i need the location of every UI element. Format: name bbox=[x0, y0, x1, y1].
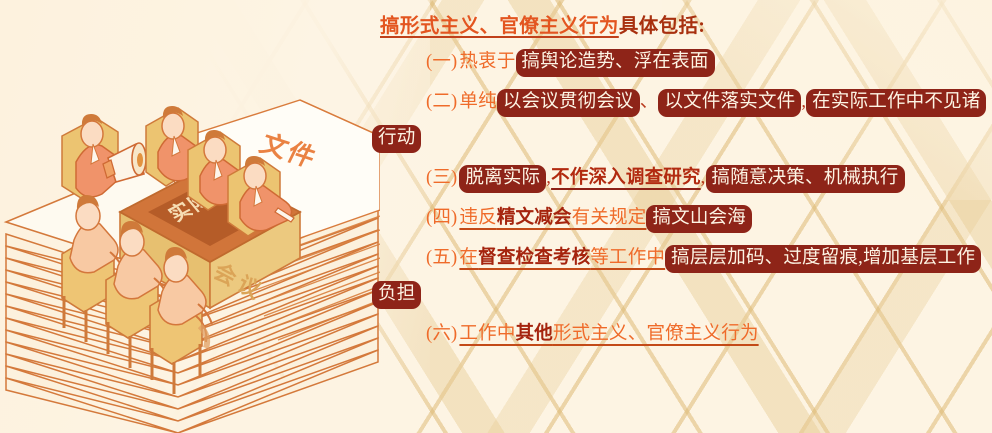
clause-run-badge: 以会议贯彻会议 bbox=[497, 89, 640, 117]
clause-run-emphasis: 不作深入调查研究 bbox=[551, 168, 701, 188]
clause-run-badge: 脱离实际 bbox=[459, 165, 546, 193]
clause-seg: 工作中 bbox=[459, 324, 515, 344]
list-item: (三)脱离实际,不作深入调查研究,搞随意决策、机械执行 bbox=[372, 160, 986, 196]
page-title-tail: 具体包括: bbox=[619, 16, 706, 37]
list-item: (六)工作中其他形式主义、官僚主义行为 bbox=[372, 316, 986, 352]
list-item: (五)在督查检查考核等工作中搞层层加码、过度留痕,增加基层工作负担 bbox=[372, 240, 986, 312]
clause-run-badge: 搞文山会海 bbox=[646, 205, 752, 233]
clause-run-plain: 单纯 bbox=[459, 92, 496, 112]
clause-run-plain: 热衷于 bbox=[459, 52, 515, 72]
clause-run-underline: 违反精文减会有关规定 bbox=[459, 208, 646, 228]
list-item: (四)违反精文减会有关规定搞文山会海 bbox=[372, 200, 986, 236]
clause-separator: 、 bbox=[640, 92, 659, 112]
page-title-underlined: 搞形式主义、官僚主义行为 bbox=[380, 16, 619, 37]
clause-seg: 形式主义、官僚主义行为 bbox=[553, 324, 759, 344]
clause-run-badge: 搞随意决策、机械执行 bbox=[706, 165, 905, 193]
list-item-number: (一) bbox=[426, 52, 457, 72]
text-column: 搞形式主义、官僚主义行为具体包括: (一)热衷于搞舆论造势、浮在表面 (二)单纯… bbox=[372, 14, 986, 424]
isometric-meeting-illustration: 文件 bbox=[0, 40, 380, 433]
clause-run-underline: 工作中其他形式主义、官僚主义行为 bbox=[459, 324, 758, 344]
clause-seg-emphasis: 精文减会 bbox=[497, 208, 572, 228]
clause-seg-emphasis: 督查检查考核 bbox=[478, 248, 590, 268]
clause-separator: , bbox=[701, 168, 706, 188]
clause-seg: 等工作中 bbox=[590, 248, 665, 268]
clause-run-badge: 搞舆论造势、浮在表面 bbox=[516, 49, 715, 77]
clause-seg: 违反 bbox=[459, 208, 496, 228]
clause-run-badge: 以文件落实文件 bbox=[658, 89, 801, 117]
page-title: 搞形式主义、官僚主义行为具体包括: bbox=[372, 14, 986, 40]
clause-seg-emphasis: 其他 bbox=[516, 324, 553, 344]
list-item-number: (五) bbox=[426, 248, 457, 268]
list-item: (一)热衷于搞舆论造势、浮在表面 bbox=[372, 44, 986, 80]
list-item-number: (六) bbox=[426, 324, 457, 344]
clause-seg: 在 bbox=[459, 248, 478, 268]
clause-run-underline: 在督查检查考核等工作中 bbox=[459, 248, 665, 268]
list-item-number: (三) bbox=[426, 168, 457, 188]
clause-list: (一)热衷于搞舆论造势、浮在表面 (二)单纯以会议贯彻会议、以文件落实文件,在实… bbox=[372, 44, 986, 352]
list-item-number: (四) bbox=[426, 208, 457, 228]
clause-seg: 有关规定 bbox=[572, 208, 647, 228]
list-item: (二)单纯以会议贯彻会议、以文件落实文件,在实际工作中不见诸行动 bbox=[372, 84, 986, 156]
poster-root: 文件 bbox=[0, 0, 992, 433]
list-item-number: (二) bbox=[426, 92, 457, 112]
